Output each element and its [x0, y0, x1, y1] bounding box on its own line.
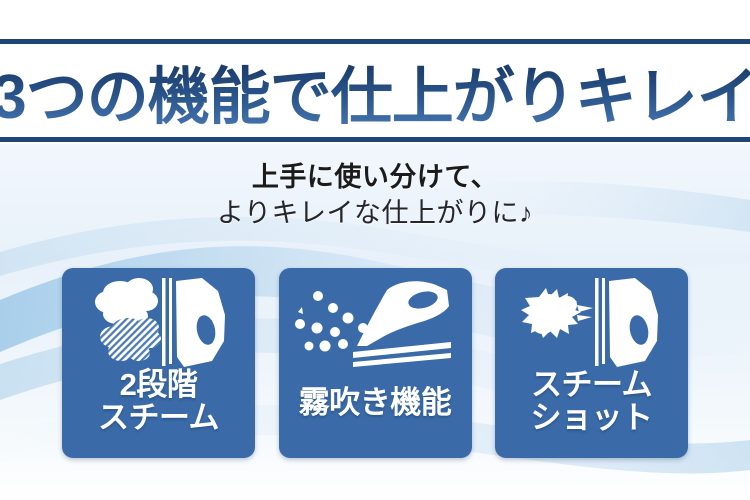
feature-card-label-line-1: 2段階	[62, 368, 255, 401]
feature-card-list: 2段階 スチーム	[62, 268, 688, 458]
subtitle: 上手に使い分けて、 よりキレイな仕上がりに♪	[0, 160, 750, 231]
header-band: 3つの機能で仕上がりキレイ	[0, 0, 750, 144]
header-rule-bottom	[0, 137, 750, 142]
feature-card-label: 霧吹き機能	[279, 386, 472, 419]
subtitle-line-1: 上手に使い分けて、	[0, 160, 750, 196]
promo-graphic: 3つの機能で仕上がりキレイ 上手に使い分けて、 よりキレイな仕上がりに♪	[0, 0, 750, 500]
feature-card-label-line-2: スチーム	[62, 401, 255, 434]
feature-card-label-line-1: 霧吹き機能	[279, 386, 472, 419]
iron-two-steam-clouds-icon	[62, 274, 255, 374]
iron-mist-spray-icon	[279, 274, 472, 374]
header-rule-top	[0, 39, 750, 44]
feature-card-steam-shot[interactable]: スチーム ショット	[495, 268, 688, 458]
subtitle-line-2: よりキレイな仕上がりに♪	[0, 196, 750, 232]
feature-card-label-line-1: スチーム	[495, 368, 688, 401]
feature-card-label: スチーム ショット	[495, 368, 688, 434]
feature-card-two-stage-steam[interactable]: 2段階 スチーム	[62, 268, 255, 458]
feature-card-label: 2段階 スチーム	[62, 368, 255, 434]
feature-card-label-line-2: ショット	[495, 401, 688, 434]
feature-card-mist-spray[interactable]: 霧吹き機能	[279, 268, 472, 458]
iron-steam-burst-icon	[495, 274, 688, 374]
page-title: 3つの機能で仕上がりキレイ	[0, 47, 750, 135]
